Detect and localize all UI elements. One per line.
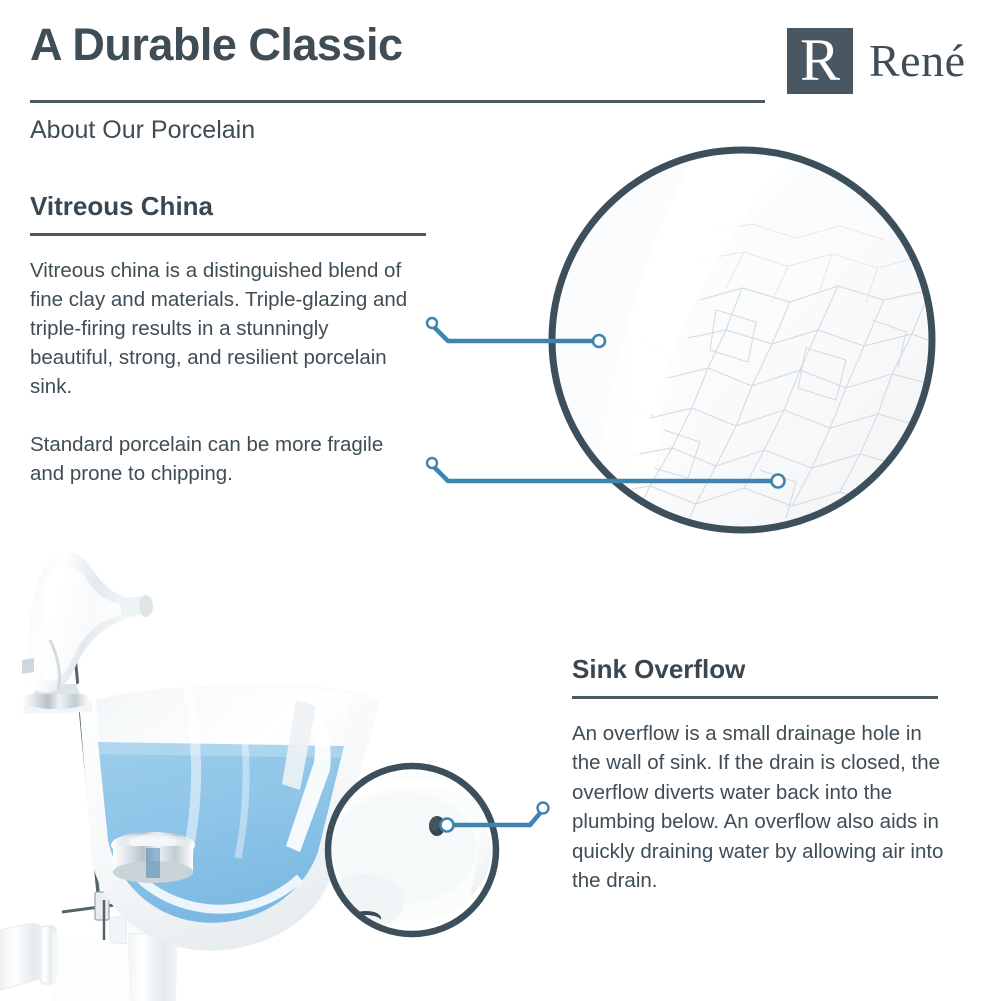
callout-overflow-hole xyxy=(441,803,549,832)
header-divider xyxy=(30,100,765,103)
section-sink-overflow: Sink Overflow An overflow is a small dra… xyxy=(572,655,952,896)
callout-node-start xyxy=(538,803,549,814)
callout-crazed-glaze xyxy=(427,458,785,488)
callout-node-end xyxy=(772,475,785,488)
page-title: A Durable Classic xyxy=(30,21,402,68)
section-divider-sink-overflow xyxy=(572,696,938,699)
logo-mark-box: R xyxy=(787,28,853,94)
logo-wordmark: René xyxy=(869,38,966,84)
page-subtitle: About Our Porcelain xyxy=(30,116,255,145)
brand-logo: R René xyxy=(787,28,966,94)
section-divider-vitreous-china xyxy=(30,233,426,236)
paragraph-vitreous-china-2: Standard porcelain can be more fragile a… xyxy=(30,430,415,488)
callout-smooth-glaze xyxy=(427,318,605,347)
section-vitreous-china: Vitreous China Vitreous china is a disti… xyxy=(30,192,430,488)
logo-letter-r: R xyxy=(787,30,853,90)
section-heading-sink-overflow: Sink Overflow xyxy=(572,655,952,684)
section-heading-vitreous-china: Vitreous China xyxy=(30,192,430,221)
callout-node-end xyxy=(441,819,454,832)
paragraph-sink-overflow-1: An overflow is a small drainage hole in … xyxy=(572,719,950,896)
infographic-page: A Durable Classic About Our Porcelain R … xyxy=(0,0,1001,1001)
callout-node-end xyxy=(593,335,605,347)
paragraph-vitreous-china-1: Vitreous china is a distinguished blend … xyxy=(30,256,415,401)
